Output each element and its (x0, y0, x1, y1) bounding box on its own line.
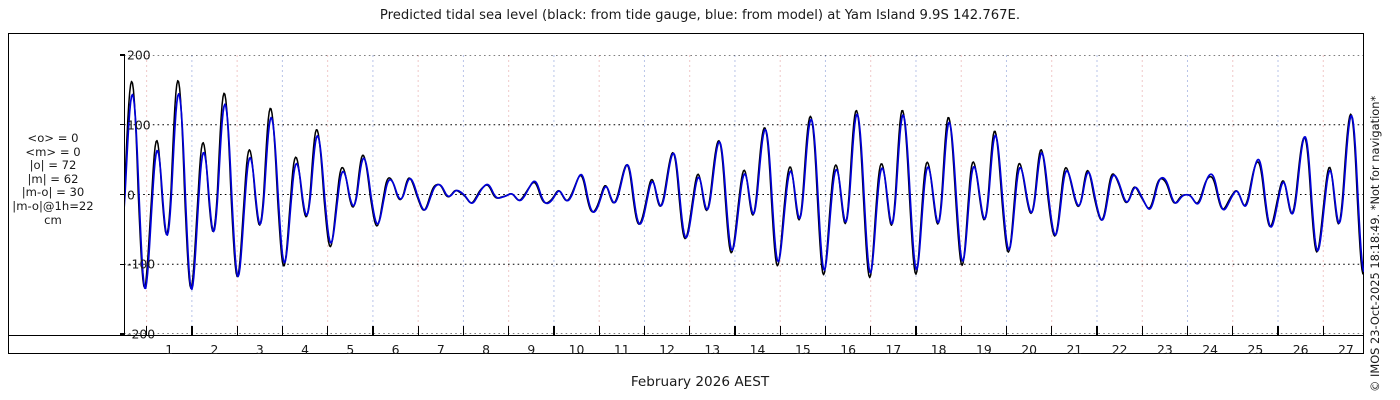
x-tick-label: 25 (1235, 342, 1275, 357)
stat-mean-observed: <o> = 0 (0, 132, 118, 146)
x-tick-mark (915, 326, 916, 335)
x-tick-label: 5 (330, 342, 370, 357)
x-axis-spine (8, 335, 1364, 336)
credit-container: © IMOS 23-Oct-2025 18:18:49. *Not for na… (1376, 0, 1398, 400)
y-tick-label: -100 (127, 257, 155, 272)
x-tick-label: 3 (240, 342, 280, 357)
observed-tide-line (124, 81, 1364, 289)
x-tick-label: 24 (1190, 342, 1230, 357)
y-axis-spine (124, 55, 125, 334)
x-tick-mark (327, 326, 328, 335)
x-tick-mark (282, 326, 283, 335)
x-tick-label: 20 (1009, 342, 1049, 357)
x-tick-label: 4 (285, 342, 325, 357)
x-tick-mark (1006, 326, 1007, 335)
x-tick-mark (463, 326, 464, 335)
x-tick-label: 1 (149, 342, 189, 357)
x-tick-label: 13 (692, 342, 732, 357)
x-tick-label: 8 (466, 342, 506, 357)
x-tick-label: 2 (195, 342, 235, 357)
x-tick-mark (553, 326, 554, 335)
x-tick-mark (372, 326, 373, 335)
x-tick-mark (780, 326, 781, 335)
x-tick-mark (1277, 326, 1278, 335)
x-tick-mark (418, 326, 419, 335)
x-axis-title: February 2026 AEST (0, 374, 1400, 390)
page-title: Predicted tidal sea level (black: from t… (0, 8, 1400, 23)
stat-abs-model: |m| = 62 (0, 173, 118, 187)
stat-abs-diff-1h: |m-o|@1h=22 (0, 200, 118, 214)
y-tick-label: 200 (127, 48, 151, 63)
x-tick-mark (961, 326, 962, 335)
y-tick-label: 0 (127, 187, 135, 202)
tide-chart-figure: Predicted tidal sea level (black: from t… (0, 0, 1400, 400)
x-tick-label: 12 (647, 342, 687, 357)
x-tick-label: 23 (1145, 342, 1185, 357)
x-tick-mark (734, 326, 735, 335)
x-tick-label: 11 (602, 342, 642, 357)
x-tick-label: 14 (738, 342, 778, 357)
stat-mean-model: <m> = 0 (0, 146, 118, 160)
x-tick-mark (146, 326, 147, 335)
stat-abs-observed: |o| = 72 (0, 159, 118, 173)
x-tick-mark (870, 326, 871, 335)
x-tick-mark (237, 326, 238, 335)
x-tick-mark (1187, 326, 1188, 335)
stat-abs-diff: |m-o| = 30 (0, 186, 118, 200)
x-tick-label: 7 (421, 342, 461, 357)
x-tick-mark (644, 326, 645, 335)
x-tick-label: 6 (376, 342, 416, 357)
tide-series-svg (124, 55, 1364, 334)
y-tick-label: -200 (127, 327, 155, 342)
statistics-block: <o> = 0 <m> = 0 |o| = 72 |m| = 62 |m-o| … (0, 132, 118, 227)
x-tick-label: 18 (919, 342, 959, 357)
x-tick-mark (1323, 326, 1324, 335)
x-tick-label: 21 (1054, 342, 1094, 357)
x-tick-label: 26 (1281, 342, 1321, 357)
x-tick-mark (689, 326, 690, 335)
plot-area (124, 55, 1364, 334)
stat-units: cm (0, 214, 118, 228)
x-tick-label: 9 (511, 342, 551, 357)
x-tick-label: 16 (828, 342, 868, 357)
x-tick-label: 15 (783, 342, 823, 357)
x-tick-mark (825, 326, 826, 335)
x-tick-mark (1232, 326, 1233, 335)
x-tick-mark (599, 326, 600, 335)
x-tick-label: 17 (873, 342, 913, 357)
x-tick-label: 27 (1326, 342, 1366, 357)
x-tick-mark (1051, 326, 1052, 335)
x-tick-label: 10 (557, 342, 597, 357)
x-tick-mark (191, 326, 192, 335)
x-tick-mark (1142, 326, 1143, 335)
y-tick-label: 100 (127, 117, 151, 132)
x-tick-label: 22 (1100, 342, 1140, 357)
copyright-notice: © IMOS 23-Oct-2025 18:18:49. *Not for na… (1368, 96, 1382, 392)
x-tick-label: 19 (964, 342, 1004, 357)
x-tick-mark (508, 326, 509, 335)
x-tick-mark (1096, 326, 1097, 335)
